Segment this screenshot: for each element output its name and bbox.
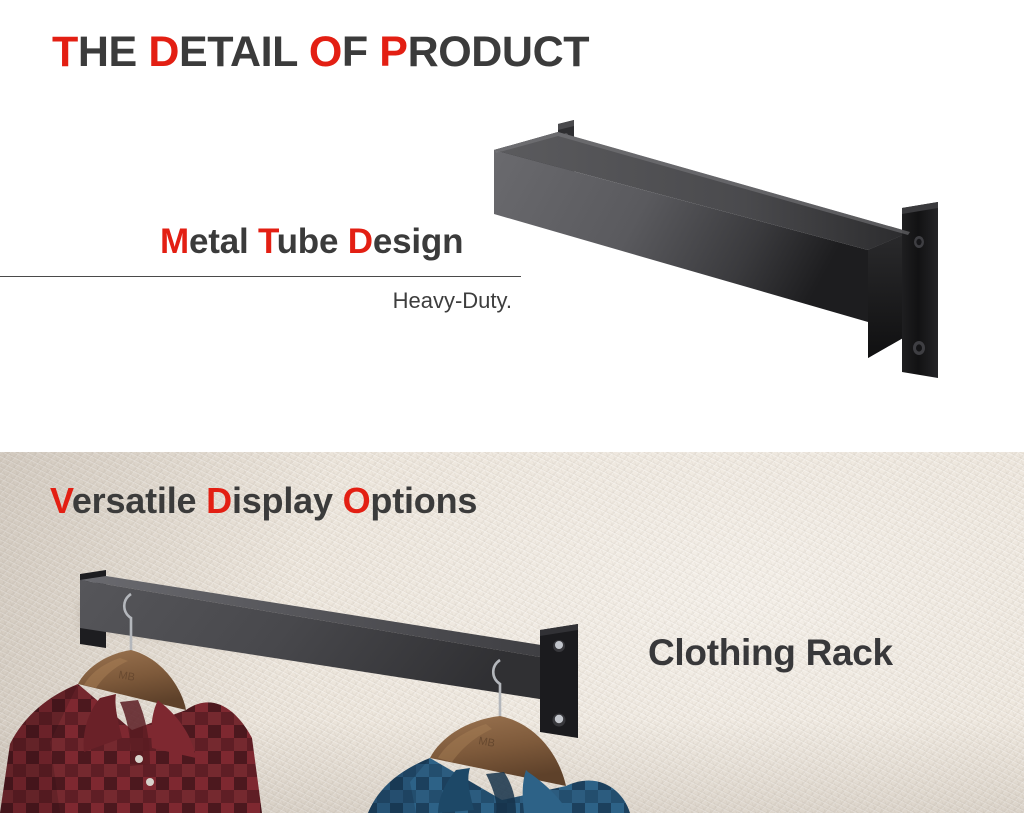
heading-rest: etal <box>189 222 258 261</box>
product-render-metal-tube <box>470 110 970 410</box>
heading-rest: ersatile <box>72 480 206 521</box>
photo-caption-clothing-rack: Clothing Rack <box>648 632 893 674</box>
heading-divider <box>0 276 521 277</box>
heading-part-2: Display <box>206 480 342 521</box>
heading-accent-letter: O <box>343 480 371 521</box>
page-title: THE DETAIL OF PRODUCT <box>52 28 589 77</box>
heading-rest: isplay <box>232 480 343 521</box>
title-accent-letter: D <box>148 28 179 76</box>
heading-rest: ptions <box>370 480 477 521</box>
garment-red-plaid-shirt: MB <box>0 650 262 813</box>
title-part-3: OF <box>309 28 379 76</box>
shirt-button <box>135 755 143 763</box>
lifestyle-photo-section: MB MB <box>0 452 1024 813</box>
heading-accent-letter: M <box>160 222 189 261</box>
heading-accent-letter: D <box>206 480 232 521</box>
mounting-bolt <box>555 641 563 649</box>
title-rest: HE <box>78 28 148 76</box>
heading-rest: esign <box>373 222 463 261</box>
heading-part-1: Metal <box>160 222 258 261</box>
heading-accent-letter: V <box>50 480 72 521</box>
title-part-2: DETAIL <box>148 28 308 76</box>
title-rest: RODUCT <box>408 28 590 76</box>
heading-accent-letter: D <box>348 222 373 261</box>
feature-heading-versatile-display-options: Versatile Display Options <box>50 480 477 522</box>
heading-part-2: Tube <box>258 222 348 261</box>
title-accent-letter: T <box>52 28 78 76</box>
product-detail-section: THE DETAIL OF PRODUCT Metal Tube Design … <box>0 0 1024 452</box>
title-accent-letter: O <box>309 28 342 76</box>
shirt-button <box>146 778 154 786</box>
heading-rest: ube <box>277 222 348 261</box>
title-accent-letter: P <box>379 28 407 76</box>
title-rest: F <box>342 28 379 76</box>
product-detail-infographic: THE DETAIL OF PRODUCT Metal Tube Design … <box>0 0 1024 813</box>
heading-accent-letter: T <box>258 222 277 261</box>
mounting-bolt <box>555 715 563 723</box>
title-part-1: THE <box>52 28 148 76</box>
feature-heading-metal-tube-design: Metal Tube Design <box>160 222 463 262</box>
feature-subtitle: Heavy-Duty. <box>0 288 512 314</box>
title-part-4: PRODUCT <box>379 28 589 76</box>
title-rest: ETAIL <box>179 28 309 76</box>
heading-part-1: Versatile <box>50 480 206 521</box>
heading-part-3: Options <box>343 480 478 521</box>
heading-part-3: Design <box>348 222 464 261</box>
garment-blue-plaid-shirt: MB <box>368 716 630 813</box>
